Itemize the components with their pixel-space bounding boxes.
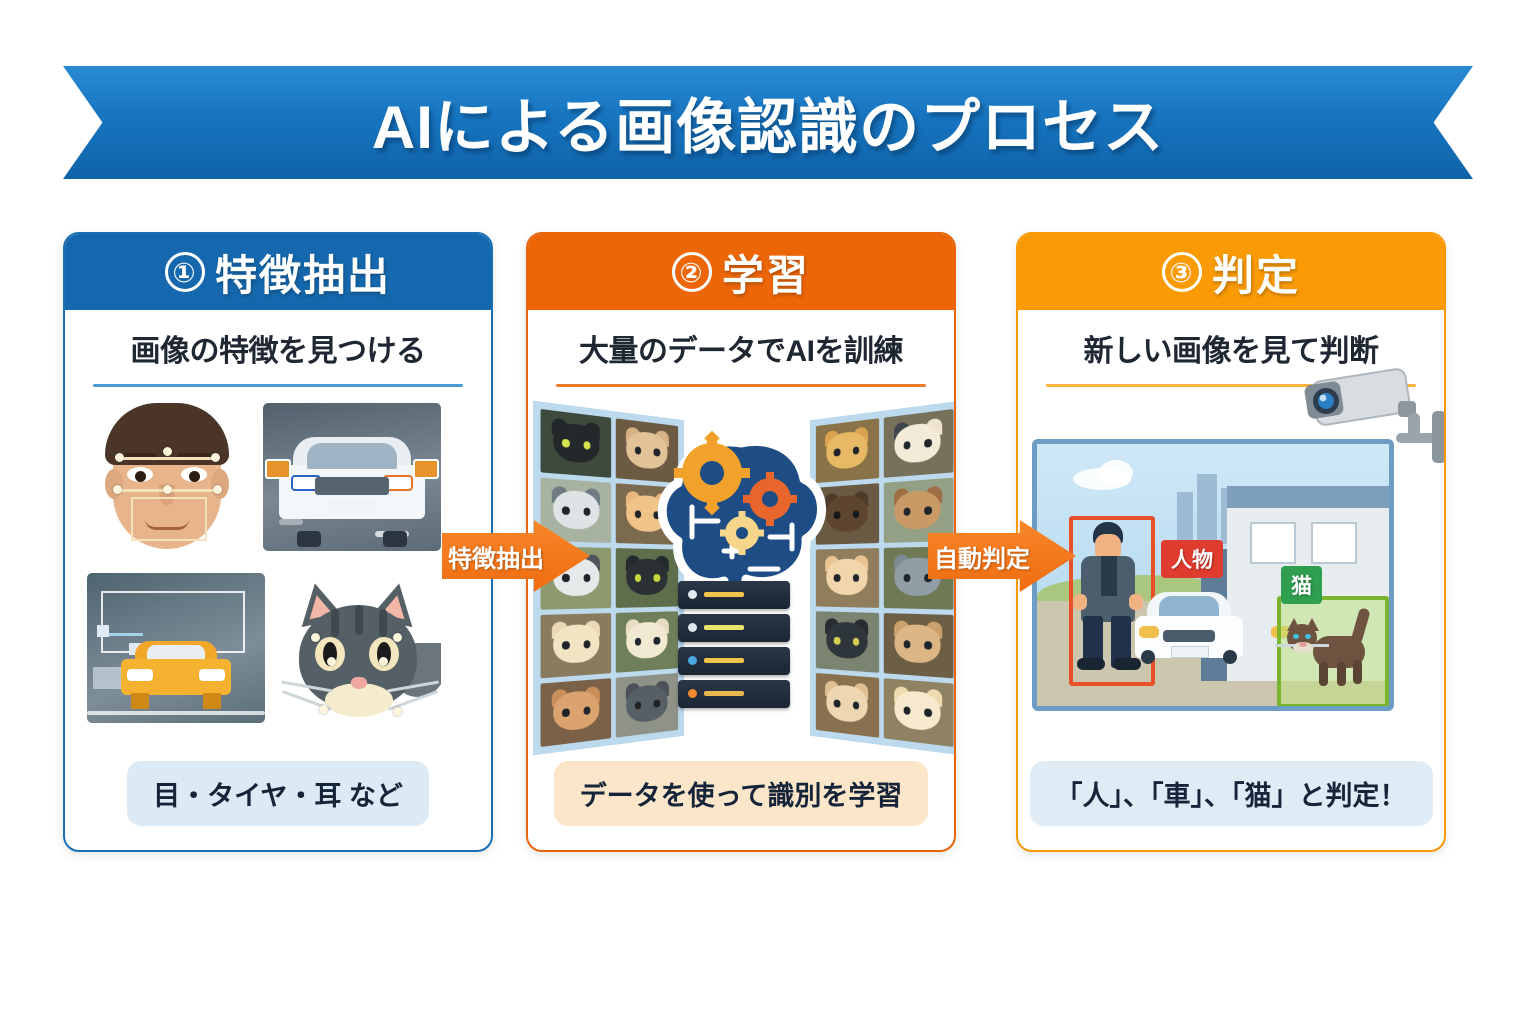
step-1-subtitle: 画像の特徴を見つける [65,326,491,370]
step-card-3[interactable]: ③ 判定 新しい画像を見て判断 [1016,232,1446,852]
step-2-subtitle: 大量のデータでAIを訓練 [528,326,954,370]
security-camera-icon [1300,361,1446,481]
step-1-divider [93,384,463,387]
detection-tag-person: 人物 [1161,540,1223,578]
step-card-1[interactable]: ① 特徴抽出 画像の特徴を見つける [63,232,493,852]
step-1-footer: 目・タイヤ・耳 など [127,761,429,826]
title-banner: AIによる画像認識のプロセス [63,66,1473,179]
step-1-number: ① [165,252,205,292]
step-2-title: 学習 [722,242,810,303]
step-3-body: 人物 猫 [1018,395,1444,747]
thumbnail-cat-face [275,581,441,729]
step-1-header: ① 特徴抽出 [65,234,491,310]
step-2-footer: データを使って識別を学習 [554,761,929,826]
thumbnail-yellow-car [87,573,265,723]
step-1-title: 特徴抽出 [215,242,391,303]
step-3-footer: 「人」、「車」、「猫」と判定！ [1030,761,1433,826]
step-2-divider [556,384,926,387]
step-2-number: ② [672,252,712,292]
arrow-1-label: 特徴抽出 [442,539,544,574]
server-stack-icon [678,581,790,711]
step-2-body [528,395,954,747]
detection-tag-cat: 猫 [1281,566,1322,604]
step-card-2[interactable]: ② 学習 大量のデータでAIを訓練 [526,232,956,852]
step-1-body [65,395,491,747]
page-title: AIによる画像認識のプロセス [372,79,1164,166]
arrow-2-label: 自動判定 [928,539,1030,574]
step-3-header: ③ 判定 [1018,234,1444,310]
step-3-number: ③ [1162,252,1202,292]
thumbnail-face [87,403,247,563]
thumbnail-white-car [263,403,441,551]
step-2-header: ② 学習 [528,234,954,310]
step-3-title: 判定 [1212,242,1300,303]
